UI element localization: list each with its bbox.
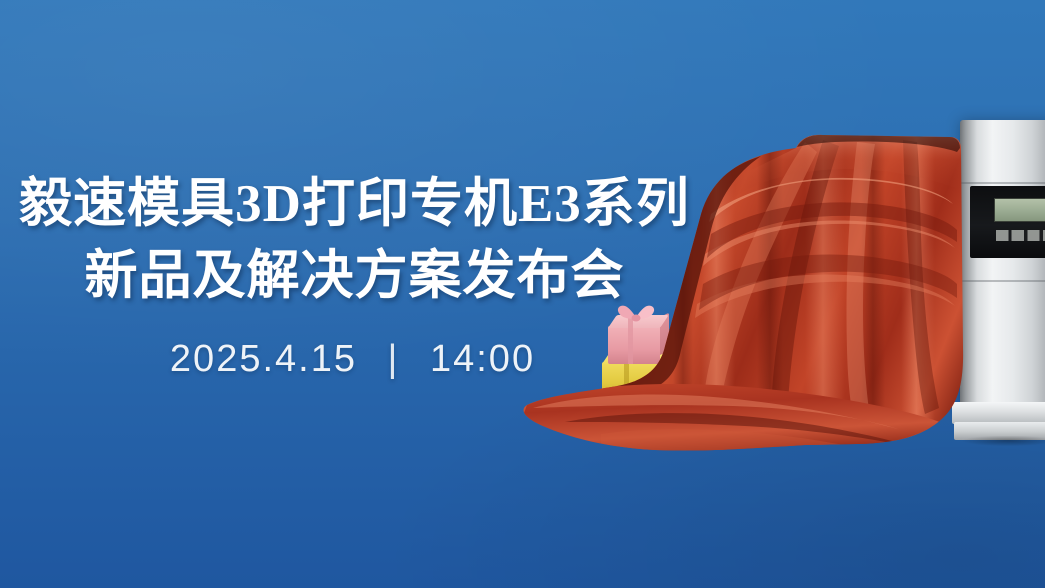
headline-line-2: 新品及解决方案发布会 bbox=[0, 240, 705, 312]
event-datetime: 2025.4.15 | 14:00 bbox=[0, 338, 705, 381]
datetime-separator: | bbox=[388, 338, 400, 381]
event-poster: 毅速模具3D打印专机E3系列 新品及解决方案发布会 2025.4.15 | 14… bbox=[0, 0, 1045, 588]
poster-text-block: 毅速模具3D打印专机E3系列 新品及解决方案发布会 2025.4.15 | 14… bbox=[0, 168, 705, 381]
event-date: 2025.4.15 bbox=[170, 338, 357, 380]
headline-line-1: 毅速模具3D打印专机E3系列 bbox=[0, 168, 705, 240]
event-time: 14:00 bbox=[430, 338, 535, 380]
